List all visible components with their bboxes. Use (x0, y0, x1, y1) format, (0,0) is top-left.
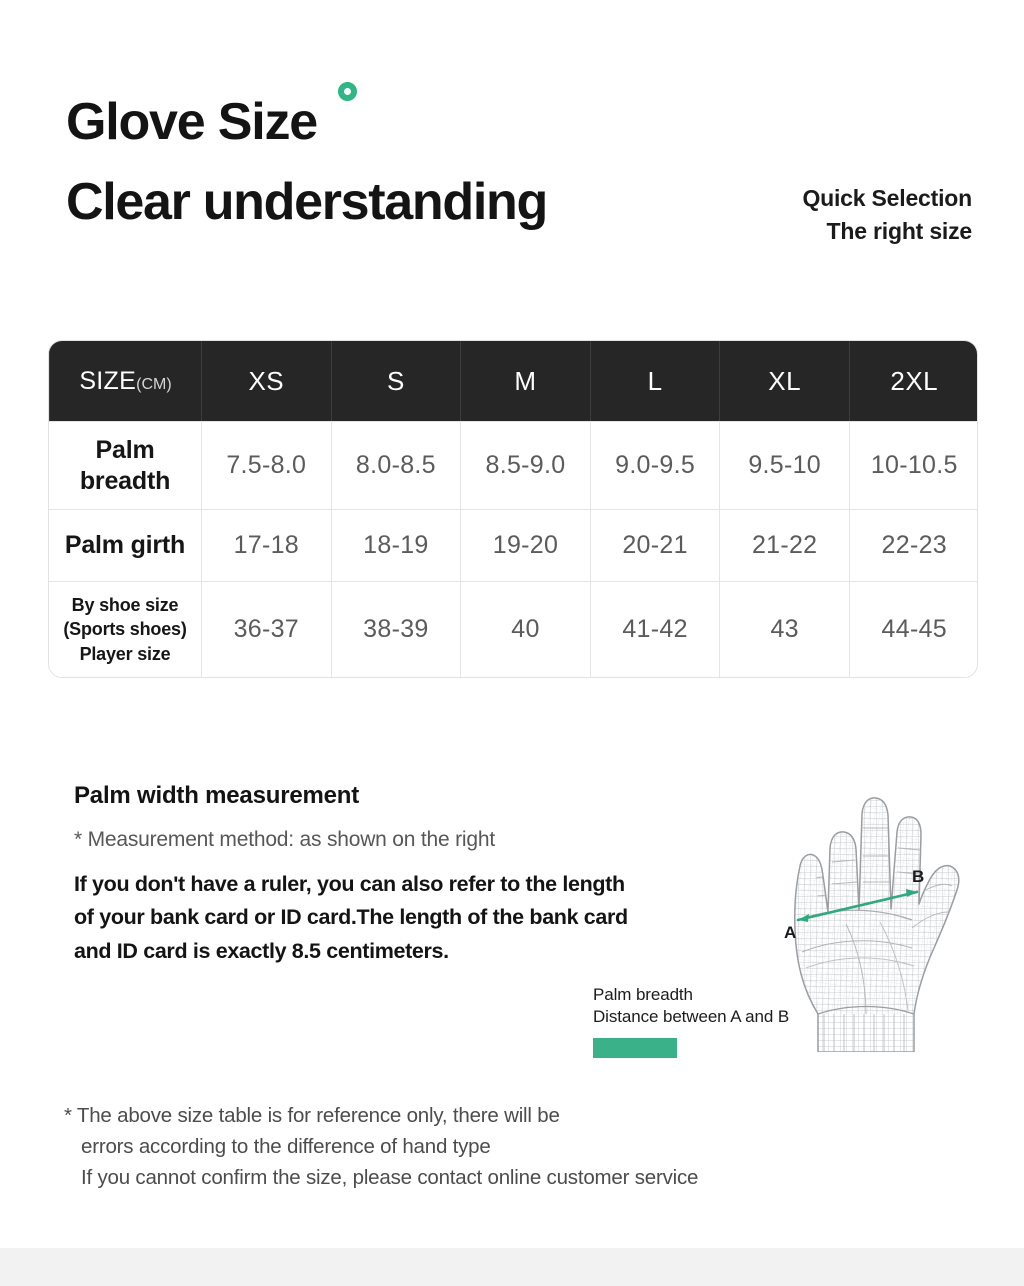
quick-selection-line1: Quick Selection (802, 182, 972, 215)
diagram-caption: Palm breadth Distance between A and B (593, 984, 833, 1058)
label-point-a: A (784, 923, 796, 942)
cell-palm-breadth-2xl: 10-10.5 (849, 422, 978, 509)
header-cell-s: S (331, 341, 461, 421)
cell-palm-girth-xs: 17-18 (201, 510, 331, 581)
cell-palm-breadth-s: 8.0-8.5 (331, 422, 461, 509)
footer-line1: * The above size table is for reference … (64, 1100, 944, 1131)
header-size-unit: (CM) (136, 376, 172, 393)
cell-shoe-size-xs: 36-37 (201, 582, 331, 677)
cell-value: 21-22 (752, 531, 817, 560)
table-row-shoe-size: By shoe size (Sports shoes) Player size … (49, 581, 977, 677)
measurement-body-line2: of your bank card or ID card.The length … (74, 905, 628, 929)
cell-shoe-size-2xl: 44-45 (849, 582, 978, 677)
measurement-body-line3: and ID card is exactly 8.5 centimeters. (74, 939, 449, 963)
header-cell-2xl: 2XL (849, 341, 978, 421)
page-subtitle: Clear understanding (66, 176, 547, 228)
cell-palm-breadth-xs: 7.5-8.0 (201, 422, 331, 509)
cell-value: 43 (770, 615, 798, 644)
row-label-text: Palm breadth (80, 435, 170, 496)
cell-palm-breadth-xl: 9.5-10 (719, 422, 849, 509)
circle-outline-icon (338, 82, 357, 101)
measurement-title: Palm width measurement (74, 782, 754, 810)
header-cell-size: SIZE(CM) (49, 341, 201, 421)
quick-selection-line2: The right size (802, 215, 972, 248)
cell-value: 17-18 (234, 531, 299, 560)
header-size-label: SIZE(CM) (79, 367, 171, 396)
row-label-shoe-size: By shoe size (Sports shoes) Player size (49, 582, 201, 677)
header-size-xl: XL (768, 366, 801, 397)
header: Glove Size Clear understanding Quick Sel… (0, 0, 1024, 300)
row-label-text: Palm girth (65, 530, 185, 561)
header-cell-m: M (460, 341, 590, 421)
cell-value: 8.5-9.0 (486, 451, 566, 480)
header-size-xs: XS (248, 366, 284, 397)
cell-palm-girth-s: 18-19 (331, 510, 461, 581)
header-size-text: SIZE (79, 367, 136, 395)
header-cell-xs: XS (201, 341, 331, 421)
cell-value: 22-23 (882, 531, 947, 560)
table-row-palm-breadth: Palm breadth 7.5-8.0 8.0-8.5 8.5-9.0 9.0… (49, 421, 977, 509)
cell-value: 9.5-10 (748, 451, 821, 480)
table-row-palm-girth: Palm girth 17-18 18-19 19-20 20-21 21-22… (49, 509, 977, 581)
header-cell-l: L (590, 341, 720, 421)
size-chart-page: Glove Size Clear understanding Quick Sel… (0, 0, 1024, 1286)
cell-value: 41-42 (622, 615, 687, 644)
size-table: SIZE(CM) XS S M L XL 2XL (48, 340, 978, 678)
cell-value: 7.5-8.0 (226, 451, 306, 480)
measurement-section: Palm width measurement * Measurement met… (74, 782, 754, 968)
cell-palm-girth-xl: 21-22 (719, 510, 849, 581)
header-cell-xl: XL (719, 341, 849, 421)
cell-shoe-size-s: 38-39 (331, 582, 461, 677)
cell-shoe-size-l: 41-42 (590, 582, 720, 677)
cell-value: 36-37 (234, 615, 299, 644)
row-label-text: By shoe size (Sports shoes) Player size (63, 593, 186, 666)
cell-value: 19-20 (493, 531, 558, 560)
color-swatch (593, 1038, 677, 1058)
quick-selection-block: Quick Selection The right size (802, 182, 972, 249)
cell-palm-breadth-m: 8.5-9.0 (460, 422, 590, 509)
cell-value: 10-10.5 (871, 451, 958, 480)
caption-line1: Palm breadth (593, 984, 833, 1006)
measurement-body: If you don't have a ruler, you can also … (74, 868, 754, 968)
cell-palm-breadth-l: 9.0-9.5 (590, 422, 720, 509)
caption-line2: Distance between A and B (593, 1006, 833, 1028)
row-label-line1: By shoe size (72, 595, 179, 615)
cell-palm-girth-2xl: 22-23 (849, 510, 978, 581)
row-label-line3: Player size (80, 644, 171, 664)
header-size-m: M (514, 366, 536, 397)
cell-palm-girth-m: 19-20 (460, 510, 590, 581)
title-block: Glove Size Clear understanding (66, 96, 547, 228)
cell-shoe-size-xl: 43 (719, 582, 849, 677)
header-size-s: S (387, 366, 405, 397)
row-label-line2: (Sports shoes) (63, 619, 186, 639)
header-size-l: L (648, 366, 663, 397)
table-header-row: SIZE(CM) XS S M L XL 2XL (49, 341, 977, 421)
measurement-body-line1: If you don't have a ruler, you can also … (74, 872, 625, 896)
row-label-line1: Palm (96, 436, 155, 464)
row-label-palm-girth: Palm girth (49, 510, 201, 581)
row-label-line2: breadth (80, 467, 170, 495)
footer-line3: If you cannot confirm the size, please c… (64, 1162, 944, 1193)
row-label-palm-breadth: Palm breadth (49, 422, 201, 509)
page-title-line1: Glove Size (66, 96, 317, 148)
cell-value: 38-39 (363, 615, 428, 644)
cell-value: 9.0-9.5 (615, 451, 695, 480)
cell-value: 40 (511, 615, 539, 644)
cell-shoe-size-m: 40 (460, 582, 590, 677)
cell-palm-girth-l: 20-21 (590, 510, 720, 581)
footer-line2: errors according to the difference of ha… (64, 1131, 944, 1162)
cell-value: 20-21 (622, 531, 687, 560)
cell-value: 44-45 (882, 615, 947, 644)
bottom-band (0, 1248, 1024, 1286)
cell-value: 18-19 (363, 531, 428, 560)
header-size-2xl: 2XL (890, 366, 938, 397)
cell-value: 8.0-8.5 (356, 451, 436, 480)
page-title-text: Glove Size (66, 93, 317, 151)
label-point-b: B (912, 867, 924, 886)
footer-disclaimer: * The above size table is for reference … (64, 1100, 944, 1193)
measurement-note: * Measurement method: as shown on the ri… (74, 828, 754, 852)
